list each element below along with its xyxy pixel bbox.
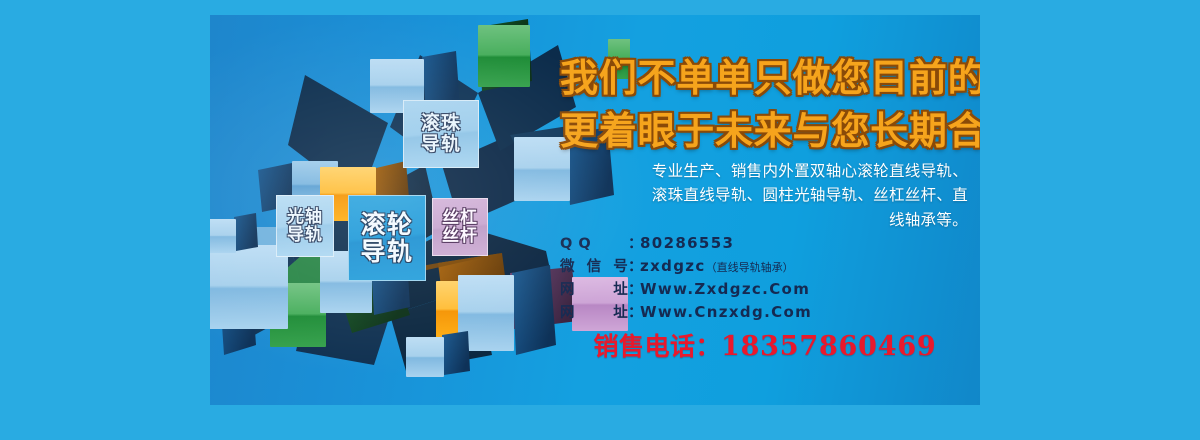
contact-label: 微信号 bbox=[550, 255, 628, 276]
sales-phone-label: 销售电话： bbox=[593, 327, 721, 363]
sales-phone-number[interactable]: 18357860469 bbox=[721, 331, 937, 362]
contact-label: 网址 bbox=[550, 278, 628, 299]
contact-row-wechat: 微信号 ： zxdgzc （直线导轨轴承） bbox=[550, 255, 980, 278]
contact-note-wechat: （直线导轨轴承） bbox=[706, 259, 794, 275]
description-line-2: 滚珠直线导轨、圆柱光轴导轨、丝杠丝杆、直 bbox=[568, 183, 968, 207]
screenshot-root: 滚珠 导轨 光轴 导轨 滚轮 导轨 丝杠 丝杆 我们不单单只做您目前的订单 更着… bbox=[0, 0, 1200, 440]
chip-line-2: 导轨 bbox=[287, 226, 323, 244]
contact-colon: ： bbox=[628, 232, 640, 253]
contact-row-qq: QQ ： 80286553 bbox=[550, 232, 980, 255]
promotional-banner: 滚珠 导轨 光轴 导轨 滚轮 导轨 丝杠 丝杆 我们不单单只做您目前的订单 更着… bbox=[210, 15, 980, 405]
product-chip-ball-guide: 滚珠 导轨 bbox=[403, 100, 479, 168]
chip-line-2: 丝杆 bbox=[442, 227, 478, 245]
headline-line-1: 我们不单单只做您目前的订单 bbox=[560, 47, 980, 102]
chip-line-1: 滚珠 bbox=[421, 113, 461, 134]
chip-line-2: 导轨 bbox=[421, 134, 461, 155]
headline-line-2: 更着眼于未来与您长期合作 bbox=[560, 100, 980, 155]
chip-line-1: 光轴 bbox=[287, 208, 323, 226]
product-description: 专业生产、销售内外置双轴心滚轮直线导轨、 滚珠直线导轨、圆柱光轴导轨、丝杠丝杆、… bbox=[568, 159, 968, 232]
contact-colon: ： bbox=[628, 278, 640, 299]
contact-label: 网址 bbox=[550, 301, 628, 322]
description-line-3: 线轴承等。 bbox=[568, 208, 968, 232]
chip-line-2: 导轨 bbox=[360, 238, 413, 265]
contact-value-website-1[interactable]: Www.Zxdgzc.Com bbox=[640, 280, 810, 298]
banner-copy-column: 我们不单单只做您目前的订单 更着眼于未来与您长期合作 专业生产、销售内外置双轴心… bbox=[550, 15, 980, 405]
description-line-1: 专业生产、销售内外置双轴心滚轮直线导轨、 bbox=[568, 159, 968, 183]
contact-value-qq[interactable]: 80286553 bbox=[640, 234, 734, 252]
chip-line-1: 丝杠 bbox=[442, 209, 478, 227]
product-chip-optical-shaft-guide: 光轴 导轨 bbox=[276, 195, 334, 257]
chip-line-1: 滚轮 bbox=[360, 211, 413, 238]
contact-label: QQ bbox=[550, 236, 628, 252]
product-chip-lead-screw: 丝杠 丝杆 bbox=[432, 198, 488, 256]
contact-row-website-1: 网址 ： Www.Zxdgzc.Com bbox=[550, 278, 980, 301]
contact-list: QQ ： 80286553 微信号 ： zxdgzc （直线导轨轴承） 网址 ：… bbox=[550, 232, 980, 324]
contact-value-wechat[interactable]: zxdgzc bbox=[640, 257, 706, 275]
contact-colon: ： bbox=[628, 301, 640, 322]
product-chip-roller-guide: 滚轮 导轨 bbox=[348, 195, 426, 281]
contact-colon: ： bbox=[628, 255, 640, 276]
contact-row-website-2: 网址 ： Www.Cnzxdg.Com bbox=[550, 301, 980, 324]
contact-value-website-2[interactable]: Www.Cnzxdg.Com bbox=[640, 303, 812, 321]
sales-phone: 销售电话： 18357860469 bbox=[550, 327, 980, 363]
